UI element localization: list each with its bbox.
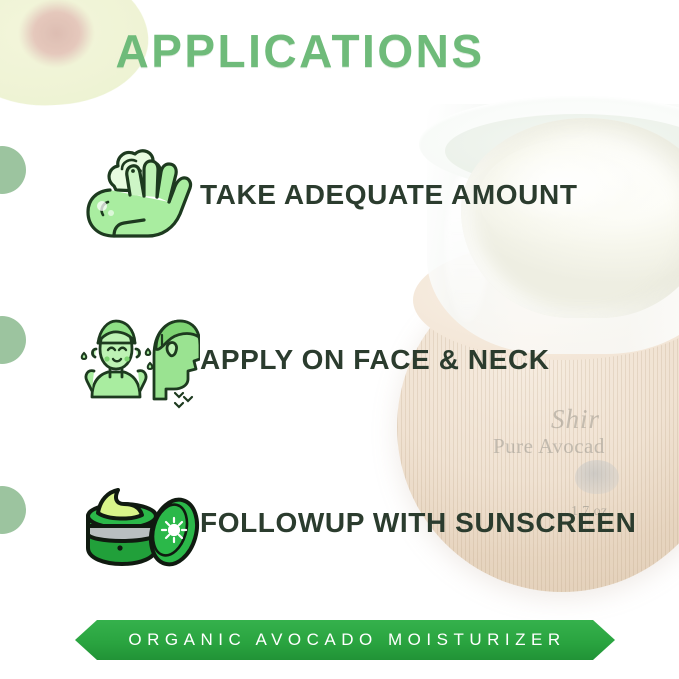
sunscreen-jar-icon [70, 468, 200, 578]
edge-dot-3 [0, 486, 26, 534]
step-label-2: APPLY ON FACE & NECK [200, 344, 550, 376]
step-label-1: TAKE ADEQUATE AMOUNT [200, 179, 578, 211]
face-and-neck-icon [70, 305, 200, 415]
banner-text: ORGANIC AVOCADO MOISTURIZER [75, 620, 615, 660]
step-row-1: TAKE ADEQUATE AMOUNT [70, 140, 578, 250]
step-row-2: APPLY ON FACE & NECK [70, 305, 550, 415]
infographic-canvas: Pure Avocad Shir 1.7 oz APPLICATIONS [0, 0, 679, 679]
step-row-3: FOLLOWUP WITH SUNSCREEN [70, 468, 636, 578]
bottom-banner: ORGANIC AVOCADO MOISTURIZER [75, 620, 615, 660]
hand-with-cream-icon [70, 140, 200, 250]
step-label-3: FOLLOWUP WITH SUNSCREEN [200, 507, 636, 539]
product-label-name: Pure Avocad [493, 434, 605, 459]
edge-dot-1 [0, 146, 26, 194]
page-title: APPLICATIONS [0, 24, 600, 78]
product-label-brand: Shir [551, 404, 600, 435]
edge-dot-2 [0, 316, 26, 364]
